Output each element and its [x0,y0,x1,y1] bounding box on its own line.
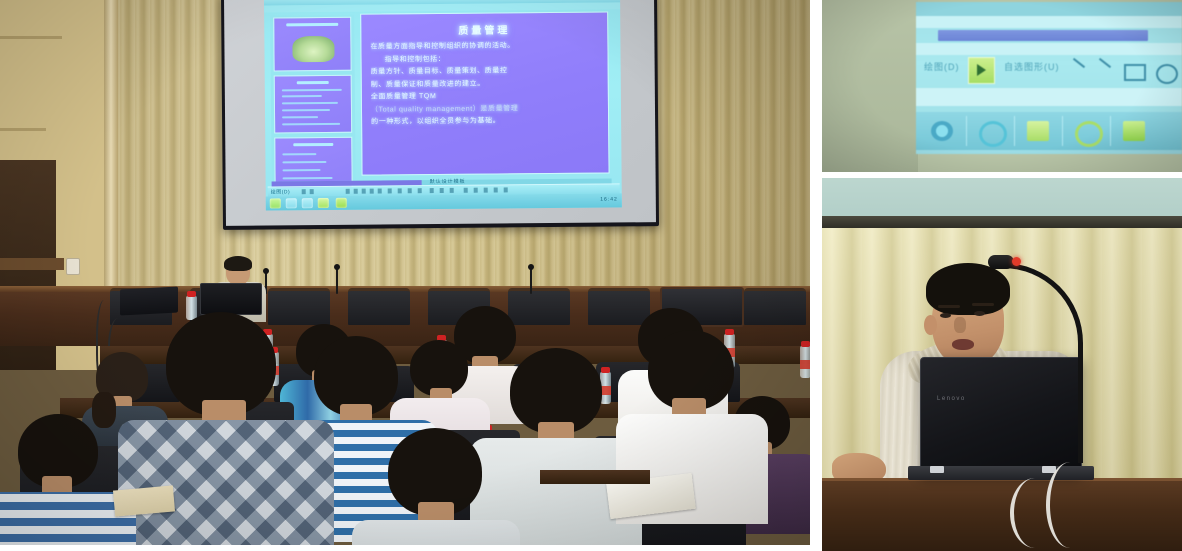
speaker-eye [940,313,951,318]
photo-projection-closeup: 绘图(D) 自选图形(U) [822,0,1182,172]
start-button[interactable] [270,198,281,208]
bottom-margin [0,545,810,551]
windows-taskbar[interactable] [916,112,1182,150]
selected-text-highlight [938,30,1148,41]
photo-lecture-hall-wide: 质量管理 在质量方面指导和控制组织的协调的活动。 指导和控制包括： 质量方针、质… [0,0,810,545]
wordart-icon[interactable] [388,188,392,193]
audience-member [360,428,510,545]
projected-powerpoint-window: 质量管理 在质量方面指导和控制组织的协调的活动。 指导和控制包括： 质量方针、质… [264,0,622,211]
podium-chair [744,288,806,325]
slide-area-strip [916,88,1182,106]
powerpoint-button[interactable] [1112,116,1158,146]
oval-icon[interactable] [370,189,374,194]
wall-left-of-screen [822,0,918,172]
microphone-led-icon [1012,257,1021,266]
speaker-eye [974,311,985,316]
line-color-icon[interactable] [440,188,444,193]
slide-body: 在质量方面指导和控制组织的协调的活动。 指导和控制包括： 质量方针、质量目标、质… [370,40,601,130]
play-media-button[interactable] [1064,116,1111,146]
curtain-rail [822,216,1182,228]
slide-thumbnail-panel[interactable] [270,15,355,181]
media-player-icon[interactable] [286,198,297,208]
notebook [113,485,175,516]
audience-desk-row-3 [540,470,650,484]
slide-title: 质量管理 [361,21,607,38]
clipart-icon[interactable] [408,188,412,193]
diagram-icon[interactable] [398,188,402,193]
laptop-brand-label: Lenovo [937,396,966,402]
current-slide[interactable]: 质量管理 在质量方面指导和控制组织的协调的活动。 指导和控制包括： 质量方针、质… [360,12,609,176]
menu-strip [916,16,1182,28]
marble-seam [0,128,46,131]
slide-line-6: （Total quality management）是质量管理 [371,102,601,117]
line-style-icon[interactable] [464,188,468,193]
arrow-icon[interactable] [1099,58,1111,68]
water-bottle [800,346,810,378]
line-icon[interactable] [1073,58,1085,68]
wall-outlet [66,258,80,275]
arrow-style-icon[interactable] [484,188,488,193]
microphone-head [988,255,1014,269]
folder-button[interactable] [1016,116,1063,146]
fill-color-icon[interactable] [430,188,434,193]
cable [1010,478,1060,548]
powerpoint-icon[interactable] [336,198,347,208]
folder-icon[interactable] [318,198,329,208]
font-color-icon[interactable] [450,188,454,193]
media-player-icon [931,121,953,141]
powerpoint-icon [1123,121,1145,141]
photo-collage: 质量管理 在质量方面指导和控制组织的协调的活动。 指导和控制包括： 质量方针、质… [0,0,1182,551]
3d-style-icon[interactable] [504,187,508,192]
rectangle-icon[interactable] [362,189,366,194]
desk-microphone [530,268,532,294]
line-icon[interactable] [346,189,350,194]
windows-taskbar[interactable]: 16:42 [266,193,622,210]
panel-divider-vertical [810,0,822,551]
dash-style-icon[interactable] [474,188,478,193]
laptop-speaker [200,283,262,315]
internet-explorer-button[interactable] [968,116,1015,146]
podium-desk [822,478,1182,551]
internet-explorer-icon[interactable] [302,198,313,208]
panel-divider-horizontal [822,172,1182,178]
taskbar-clock: 16:42 [600,196,618,202]
speaker-mouth [952,339,974,350]
slide-thumbnail-1[interactable] [273,17,351,72]
speaker-nose [954,317,966,333]
podium-chair [348,288,410,325]
rectangle-icon[interactable] [1124,64,1146,81]
thumbnail-image [292,36,334,62]
window-titlebar-strip [916,2,1182,16]
media-player-button[interactable] [920,116,967,146]
draw-menu-label[interactable]: 绘图(D) [924,60,960,73]
folder-icon [1027,121,1049,141]
select-objects-icon[interactable] [968,57,995,84]
projection-screen: 质量管理 在质量方面指导和控制组织的协调的活动。 指导和控制包括： 质量方针、质… [221,0,659,230]
formatting-strip [916,43,1182,55]
textbox-icon[interactable] [378,189,382,194]
marble-seam [0,36,62,39]
picture-icon[interactable] [418,188,422,193]
pillar-ledge [0,258,64,270]
speaker-eyebrow [972,303,994,306]
audience-member [0,414,130,545]
play-media-icon [1075,121,1103,147]
speaker-eyebrow [938,305,960,308]
oval-icon[interactable] [1156,64,1178,84]
select-arrow-icon[interactable] [302,189,306,194]
upper-wall [822,178,1182,218]
autoshapes-icon[interactable] [310,189,314,194]
internet-explorer-icon [979,121,1007,147]
laptop-latch [930,466,944,473]
projected-screen-closeup: 绘图(D) 自选图形(U) [916,2,1182,154]
slide-thumbnail-2[interactable] [274,75,353,134]
projection-screen-surface: 质量管理 在质量方面指导和控制组织的协调的活动。 指导和控制包括： 质量方针、质… [224,0,656,226]
slide-line-7: 的一种形式，以组织全员参与为基础。 [371,115,601,130]
arrow-icon[interactable] [354,189,358,194]
desk-microphone [336,268,338,294]
shadow-style-icon[interactable] [494,187,498,192]
autoshapes-menu-label[interactable]: 自选图形(U) [1004,60,1060,73]
speaker-ear [924,315,937,335]
speaker-hair [224,256,252,271]
draw-menu-label[interactable]: 绘图(D) [271,188,291,195]
